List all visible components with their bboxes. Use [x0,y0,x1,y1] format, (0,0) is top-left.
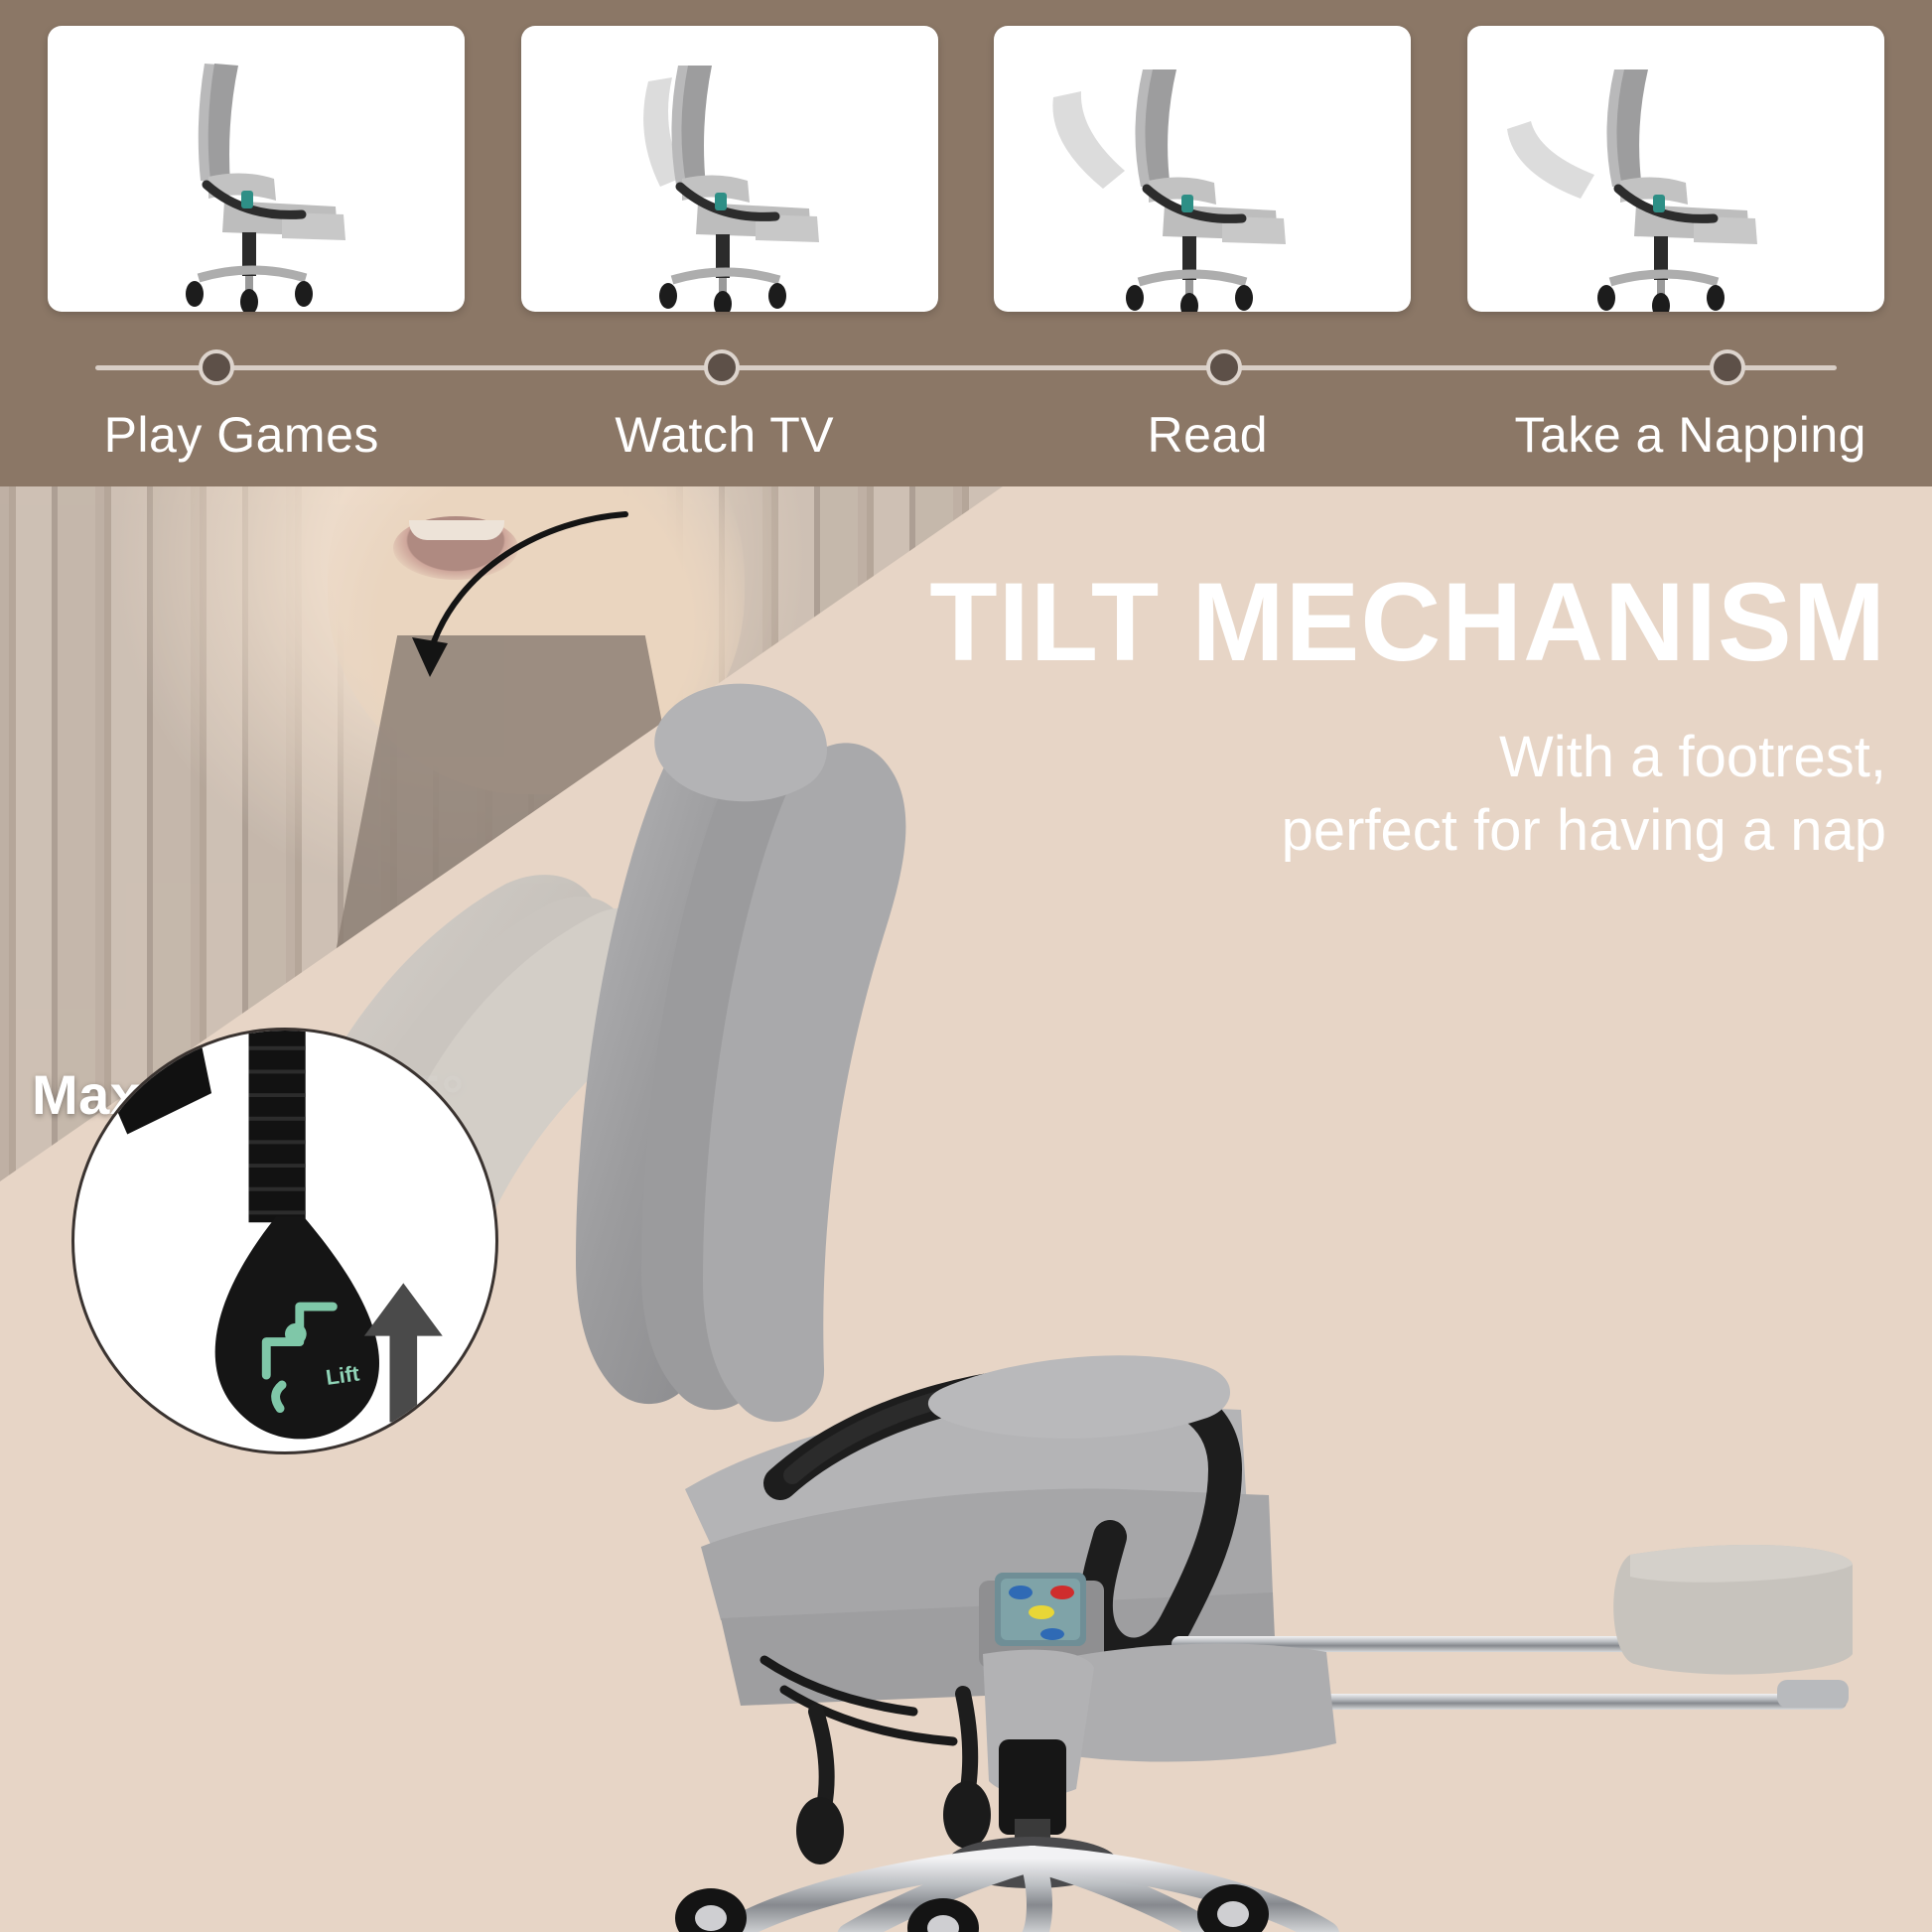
stepper-dot-1[interactable] [199,349,234,385]
lever-lift-text: Lift [325,1360,361,1389]
activity-banner: Play Games Watch TV Read Take a Napping [0,0,1932,486]
lever-detail-inset: Lift [71,1028,498,1454]
chair-reclined-1-thumb [521,26,938,312]
step-label-read: Read [966,395,1449,486]
step-label-watch-tv: Watch TV [483,395,967,486]
activity-stepper [0,338,1932,397]
stepper-dot-2[interactable] [704,349,740,385]
step-label-play-games: Play Games [0,395,483,486]
stepper-track [95,365,1837,370]
chair-reclined-2-thumb [994,26,1411,312]
step-label-take-a-nap: Take a Napping [1449,395,1932,486]
activity-thumbnail-row [0,26,1932,314]
activity-thumb-card[interactable] [994,26,1411,312]
activity-thumb-card[interactable] [48,26,465,312]
stepper-dot-3[interactable] [1206,349,1242,385]
chair-reclined-3-thumb [1467,26,1884,312]
activity-label-row: Play Games Watch TV Read Take a Napping [0,395,1932,486]
feature-stage: Max Angle: 135° TILT MECHANISM With a fo… [0,486,1932,1932]
stepper-dot-4[interactable] [1710,349,1745,385]
activity-thumb-card[interactable] [1467,26,1884,312]
activity-thumb-card[interactable] [521,26,938,312]
chair-upright-thumb [48,26,465,312]
